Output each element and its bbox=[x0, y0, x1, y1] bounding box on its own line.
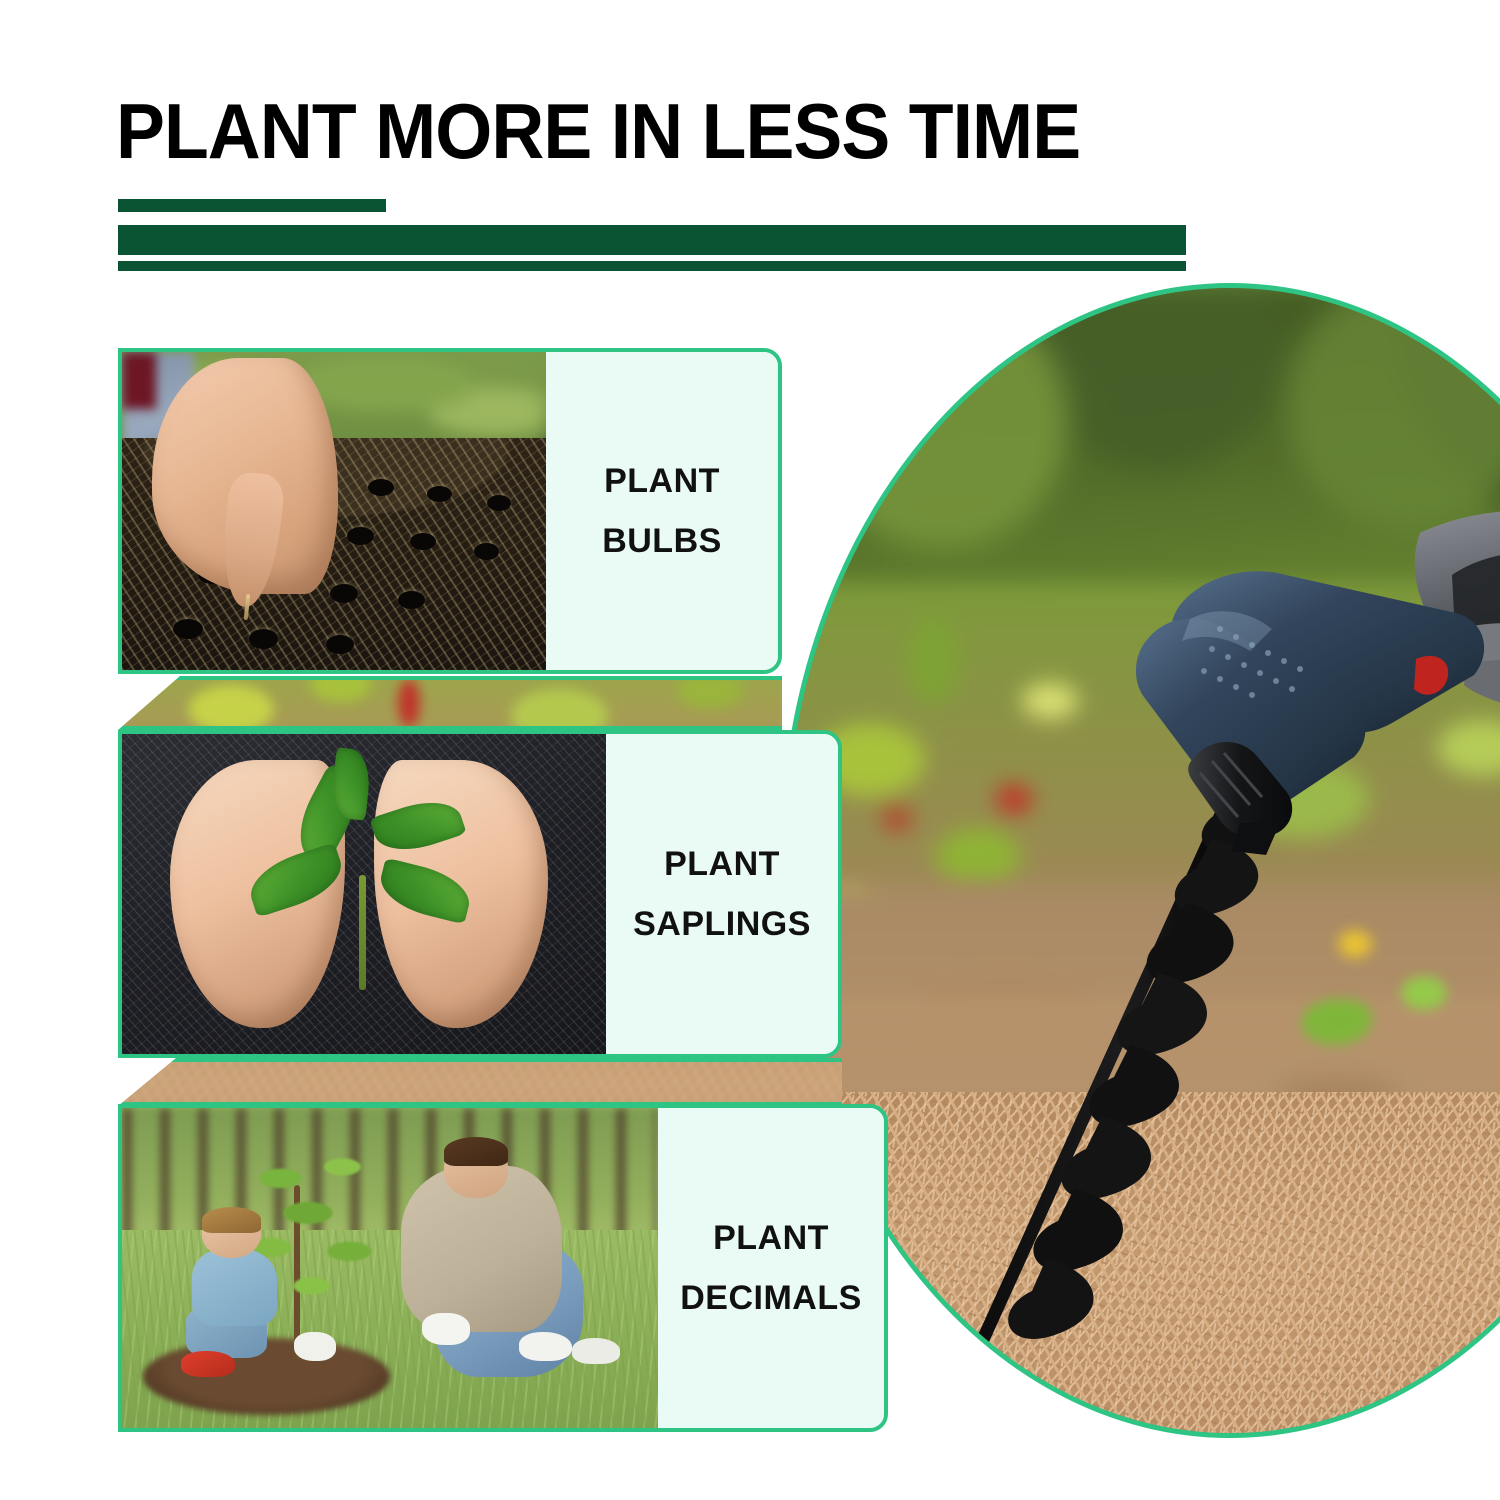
feature-card-plant-decimals[interactable]: PLANT DECIMALS bbox=[118, 1104, 888, 1432]
sliver-photo-1 bbox=[118, 676, 782, 730]
feature-label-plant-decimals: PLANT DECIMALS bbox=[658, 1108, 884, 1428]
sliver-photo-2 bbox=[118, 1058, 842, 1106]
feature-photo-plant-saplings bbox=[122, 734, 606, 1054]
feature-label-plant-saplings: PLANT SAPLINGS bbox=[606, 734, 838, 1054]
feature-photo-plant-bulbs bbox=[122, 352, 546, 670]
hero-yellow-flower-a bbox=[1338, 930, 1372, 958]
hero-image-region bbox=[780, 283, 1500, 1438]
hero-oval-frame bbox=[780, 283, 1500, 1438]
hero-forest-bokeh bbox=[780, 283, 1500, 630]
hero-photo-layers bbox=[780, 283, 1500, 1438]
page-title: PLANT MORE IN LESS TIME bbox=[116, 86, 1080, 177]
feature-photo-plant-decimals bbox=[122, 1108, 658, 1428]
accent-rule-short bbox=[118, 199, 386, 212]
card-connector-sliver-2 bbox=[118, 1058, 842, 1106]
feature-label-line1: PLANT bbox=[604, 464, 720, 498]
hero-sprig-b bbox=[1401, 976, 1447, 1010]
feature-label-line1: PLANT bbox=[713, 1221, 829, 1255]
hero-photo bbox=[780, 283, 1500, 1438]
feature-label-line1: PLANT bbox=[664, 847, 780, 881]
feature-label-line2: DECIMALS bbox=[680, 1281, 862, 1315]
feature-card-plant-bulbs[interactable]: PLANT BULBS bbox=[118, 348, 782, 674]
hero-straw-mulch bbox=[780, 1092, 1500, 1439]
feature-label-line2: BULBS bbox=[602, 524, 722, 558]
feature-label-plant-bulbs: PLANT BULBS bbox=[546, 352, 778, 670]
feature-card-plant-saplings[interactable]: PLANT SAPLINGS bbox=[118, 730, 842, 1058]
card-connector-sliver-1 bbox=[118, 676, 782, 730]
feature-label-line2: SAPLINGS bbox=[633, 907, 811, 941]
accent-rule-thick bbox=[118, 225, 1186, 255]
accent-rule-thin bbox=[118, 261, 1186, 271]
